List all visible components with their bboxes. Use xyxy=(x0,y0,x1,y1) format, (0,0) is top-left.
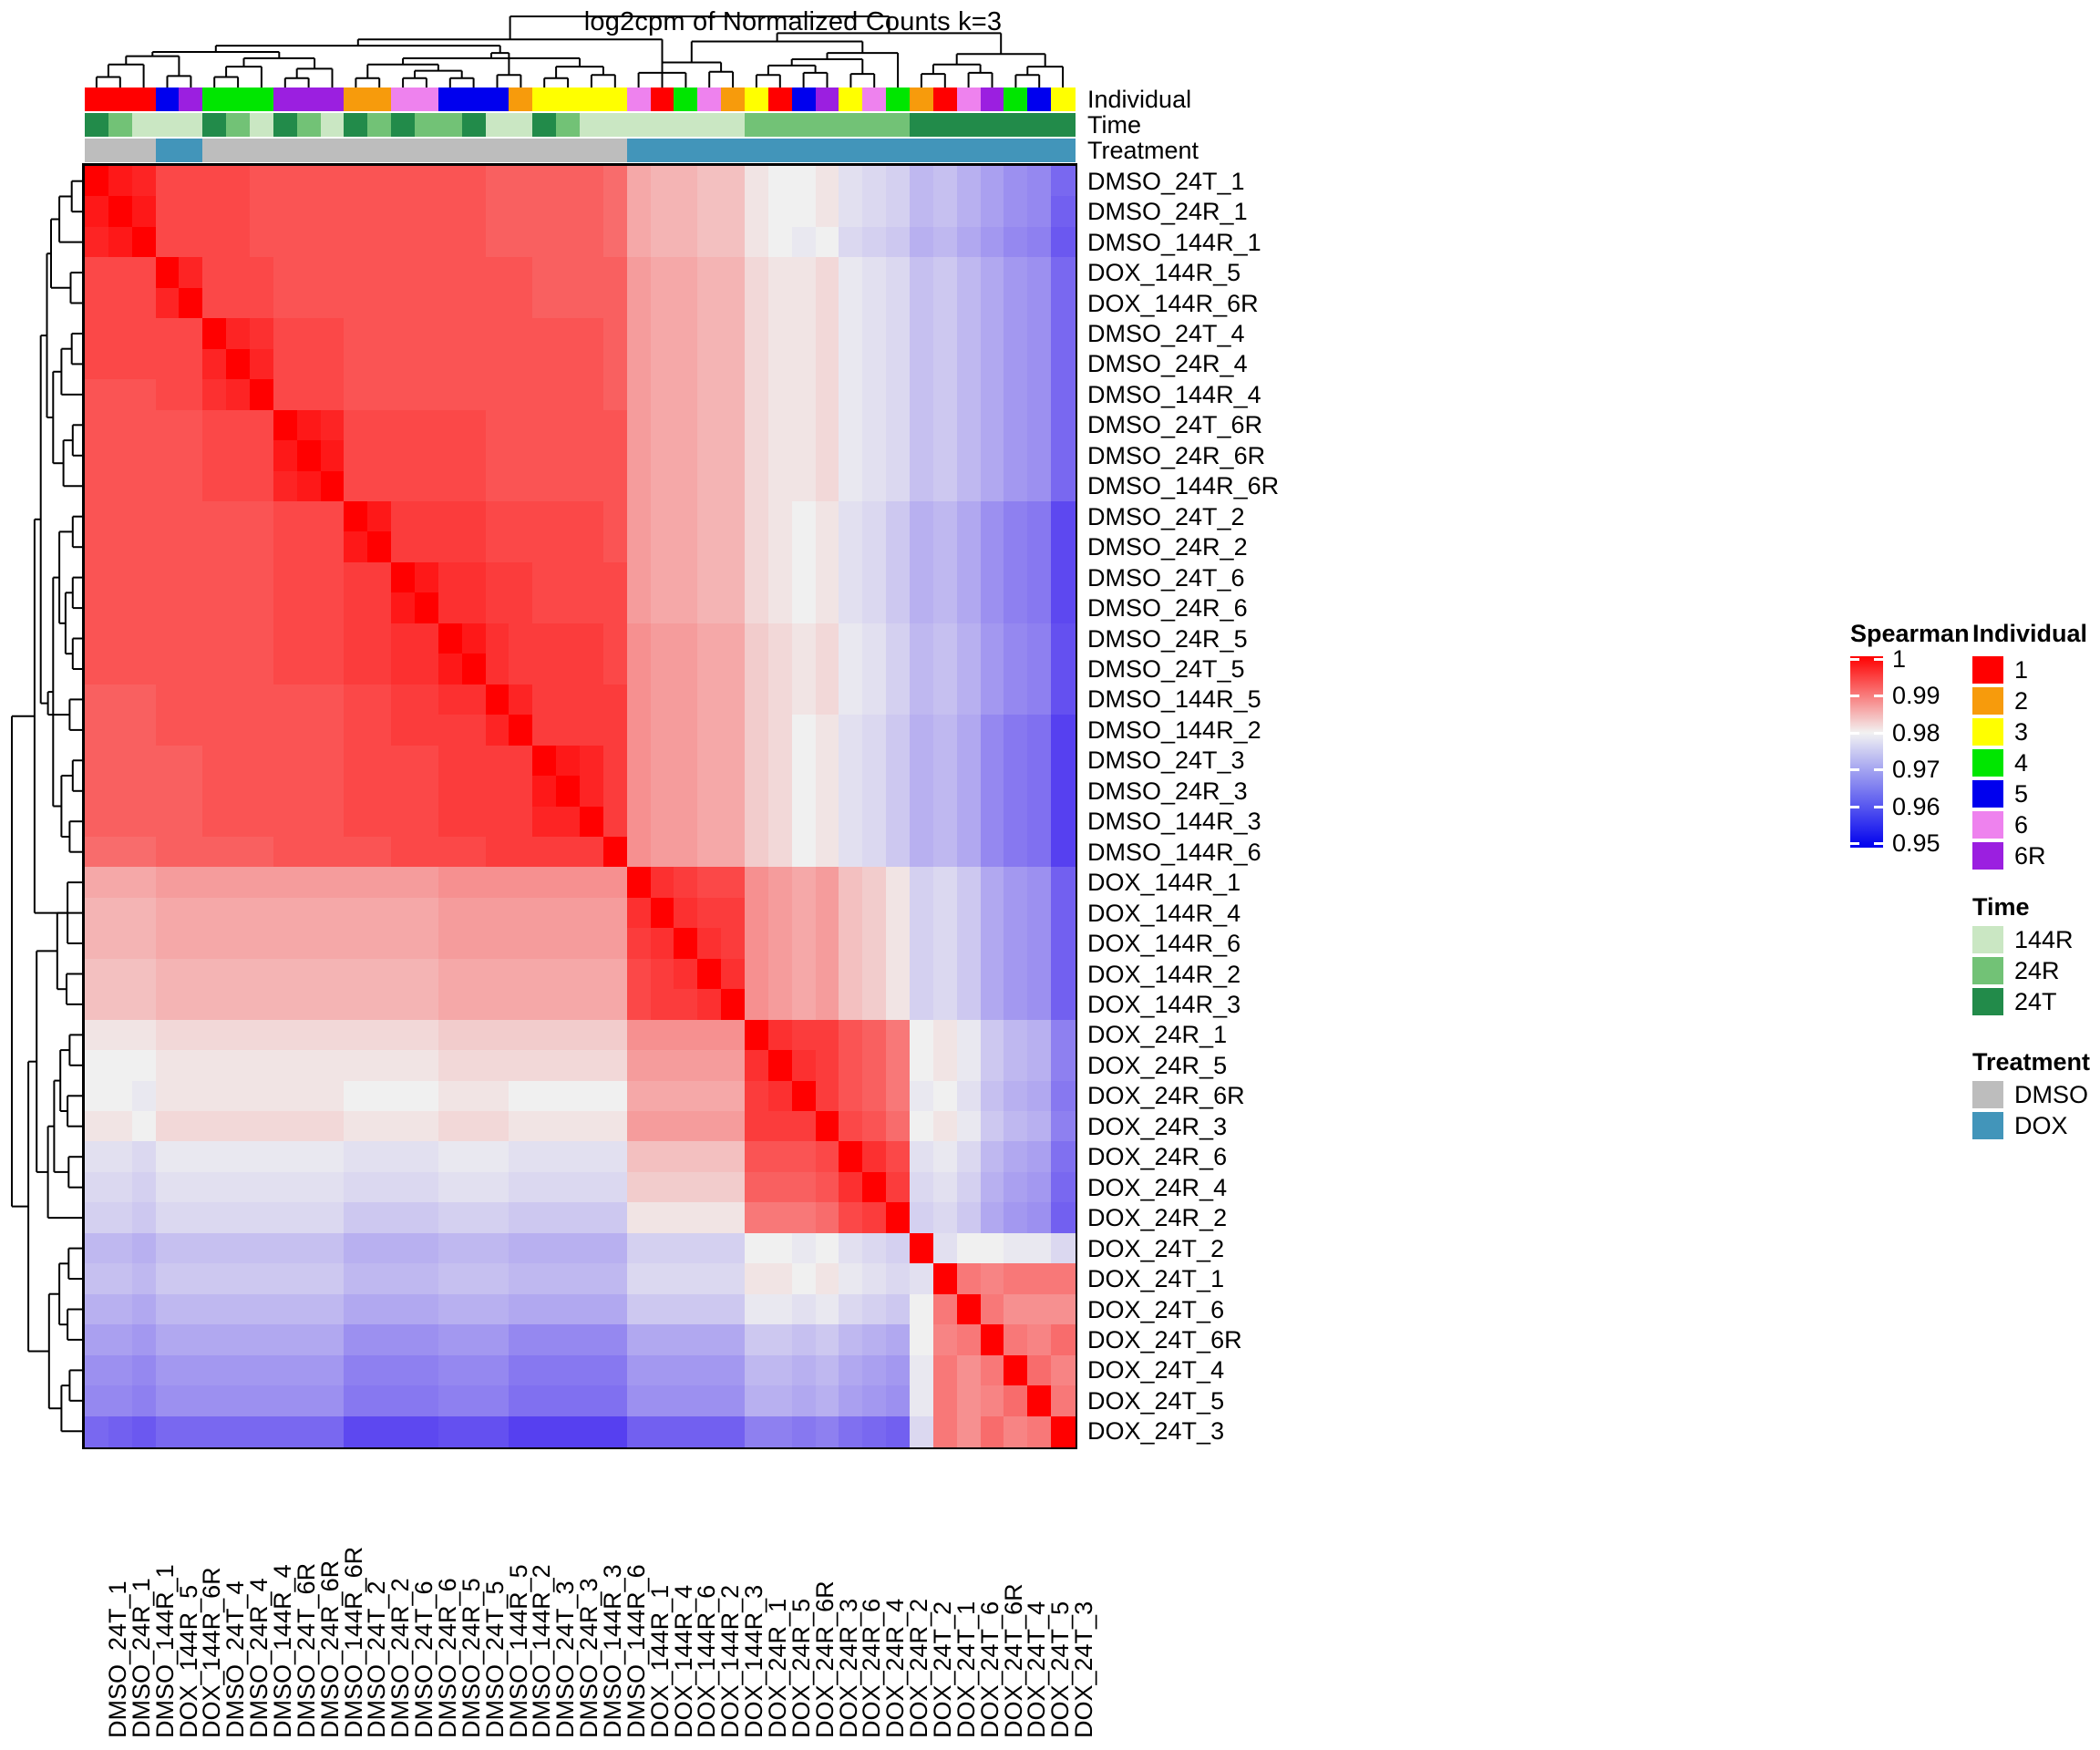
heatmap-cell[interactable] xyxy=(297,1050,321,1081)
heatmap-cell[interactable] xyxy=(981,1141,1004,1172)
heatmap-cell[interactable] xyxy=(226,196,250,227)
heatmap-cell[interactable] xyxy=(1051,1233,1075,1264)
heatmap-cell[interactable] xyxy=(580,746,603,777)
heatmap-cell[interactable] xyxy=(886,1263,910,1294)
heatmap-cell[interactable] xyxy=(1027,288,1051,319)
heatmap-cell[interactable] xyxy=(981,1263,1004,1294)
heatmap-cell[interactable] xyxy=(1027,989,1051,1020)
heatmap-cell[interactable] xyxy=(226,898,250,929)
heatmap-cell[interactable] xyxy=(957,592,981,623)
heatmap-cell[interactable] xyxy=(202,928,226,959)
heatmap-cell[interactable] xyxy=(108,1324,132,1355)
heatmap-cell[interactable] xyxy=(486,257,510,288)
heatmap-cell[interactable] xyxy=(981,1294,1004,1325)
heatmap-cell[interactable] xyxy=(862,1385,886,1416)
heatmap-cell[interactable] xyxy=(250,1385,273,1416)
heatmap-cell[interactable] xyxy=(981,227,1004,258)
heatmap-cell[interactable] xyxy=(839,440,862,471)
heatmap-cell[interactable] xyxy=(957,1202,981,1233)
heatmap-cell[interactable] xyxy=(367,1050,391,1081)
heatmap-cell[interactable] xyxy=(273,227,297,258)
heatmap-cell[interactable] xyxy=(250,959,273,990)
heatmap-cell[interactable] xyxy=(627,1416,651,1447)
heatmap-cell[interactable] xyxy=(297,501,321,532)
heatmap-cell[interactable] xyxy=(580,867,603,898)
heatmap-cell[interactable] xyxy=(816,776,839,807)
heatmap-cell[interactable] xyxy=(1004,1263,1027,1294)
heatmap-cell[interactable] xyxy=(603,1324,627,1355)
heatmap-cell[interactable] xyxy=(108,989,132,1020)
heatmap-cell[interactable] xyxy=(816,1172,839,1203)
heatmap-cell[interactable] xyxy=(580,837,603,868)
heatmap-cell[interactable] xyxy=(603,471,627,502)
heatmap-cell[interactable] xyxy=(415,440,438,471)
heatmap-cell[interactable] xyxy=(933,501,957,532)
heatmap-cell[interactable] xyxy=(367,776,391,807)
heatmap-cell[interactable] xyxy=(344,1416,367,1447)
heatmap-cell[interactable] xyxy=(156,959,180,990)
heatmap-cell[interactable] xyxy=(1027,1172,1051,1203)
heatmap-cell[interactable] xyxy=(344,623,367,654)
heatmap-cell[interactable] xyxy=(391,837,415,868)
heatmap-cell[interactable] xyxy=(768,746,792,777)
heatmap-cell[interactable] xyxy=(862,1020,886,1051)
heatmap-cell[interactable] xyxy=(957,379,981,410)
heatmap-cell[interactable] xyxy=(509,379,532,410)
heatmap-cell[interactable] xyxy=(580,166,603,197)
heatmap-cell[interactable] xyxy=(627,654,651,685)
heatmap-cell[interactable] xyxy=(297,685,321,715)
heatmap-cell[interactable] xyxy=(768,1416,792,1447)
heatmap-cell[interactable] xyxy=(297,959,321,990)
heatmap-cell[interactable] xyxy=(957,166,981,197)
heatmap-cell[interactable] xyxy=(462,1385,486,1416)
heatmap-cell[interactable] xyxy=(132,1111,156,1142)
heatmap-cell[interactable] xyxy=(839,1081,862,1112)
heatmap-cell[interactable] xyxy=(816,715,839,746)
heatmap-cell[interactable] xyxy=(839,1416,862,1447)
heatmap-cell[interactable] xyxy=(391,654,415,685)
heatmap-cell[interactable] xyxy=(250,989,273,1020)
heatmap-cell[interactable] xyxy=(627,1111,651,1142)
heatmap-cell[interactable] xyxy=(886,1081,910,1112)
heatmap-cell[interactable] xyxy=(1027,654,1051,685)
heatmap-cell[interactable] xyxy=(273,837,297,868)
heatmap-cell[interactable] xyxy=(297,166,321,197)
heatmap-cell[interactable] xyxy=(226,1416,250,1447)
heatmap-cell[interactable] xyxy=(957,288,981,319)
heatmap-cell[interactable] xyxy=(933,776,957,807)
heatmap-cell[interactable] xyxy=(580,1020,603,1051)
heatmap-cell[interactable] xyxy=(297,898,321,929)
heatmap-cell[interactable] xyxy=(391,1233,415,1264)
heatmap-cell[interactable] xyxy=(721,379,745,410)
heatmap-cell[interactable] xyxy=(792,501,816,532)
heatmap-cell[interactable] xyxy=(391,288,415,319)
heatmap-cell[interactable] xyxy=(85,1263,108,1294)
heatmap-cell[interactable] xyxy=(839,1233,862,1264)
heatmap-cell[interactable] xyxy=(651,1324,674,1355)
heatmap-cell[interactable] xyxy=(862,623,886,654)
heatmap-cell[interactable] xyxy=(580,227,603,258)
heatmap-cell[interactable] xyxy=(250,1081,273,1112)
heatmap-cell[interactable] xyxy=(85,1141,108,1172)
heatmap-cell[interactable] xyxy=(721,288,745,319)
heatmap-cell[interactable] xyxy=(85,440,108,471)
heatmap-cell[interactable] xyxy=(156,1141,180,1172)
heatmap-cell[interactable] xyxy=(697,1050,721,1081)
heatmap-cell[interactable] xyxy=(321,1385,345,1416)
heatmap-cell[interactable] xyxy=(344,166,367,197)
heatmap-cell[interactable] xyxy=(792,959,816,990)
heatmap-cell[interactable] xyxy=(344,1294,367,1325)
heatmap-cell[interactable] xyxy=(438,1020,462,1051)
heatmap-cell[interactable] xyxy=(816,685,839,715)
heatmap-cell[interactable] xyxy=(1051,867,1075,898)
heatmap-cell[interactable] xyxy=(462,746,486,777)
heatmap-cell[interactable] xyxy=(509,440,532,471)
heatmap-cell[interactable] xyxy=(603,1172,627,1203)
heatmap-cell[interactable] xyxy=(486,867,510,898)
heatmap-cell[interactable] xyxy=(226,928,250,959)
heatmap-cell[interactable] xyxy=(179,989,202,1020)
heatmap-cell[interactable] xyxy=(721,959,745,990)
heatmap-cell[interactable] xyxy=(745,623,768,654)
heatmap-cell[interactable] xyxy=(674,1416,697,1447)
heatmap-cell[interactable] xyxy=(1004,1324,1027,1355)
heatmap-cell[interactable] xyxy=(627,227,651,258)
heatmap-cell[interactable] xyxy=(792,531,816,562)
heatmap-cell[interactable] xyxy=(273,288,297,319)
heatmap-cell[interactable] xyxy=(910,379,933,410)
heatmap-cell[interactable] xyxy=(156,257,180,288)
heatmap-cell[interactable] xyxy=(603,654,627,685)
heatmap-cell[interactable] xyxy=(792,318,816,349)
heatmap-cell[interactable] xyxy=(839,592,862,623)
heatmap-cell[interactable] xyxy=(438,1081,462,1112)
heatmap-cell[interactable] xyxy=(321,166,345,197)
heatmap-cell[interactable] xyxy=(344,776,367,807)
heatmap-cell[interactable] xyxy=(862,1324,886,1355)
heatmap-cell[interactable] xyxy=(85,1355,108,1386)
heatmap-cell[interactable] xyxy=(532,410,556,441)
heatmap-cell[interactable] xyxy=(792,1263,816,1294)
heatmap-cell[interactable] xyxy=(108,196,132,227)
heatmap-cell[interactable] xyxy=(321,623,345,654)
heatmap-cell[interactable] xyxy=(580,1324,603,1355)
heatmap-cell[interactable] xyxy=(202,1202,226,1233)
heatmap-cell[interactable] xyxy=(226,1081,250,1112)
heatmap-cell[interactable] xyxy=(816,746,839,777)
heatmap-cell[interactable] xyxy=(202,959,226,990)
heatmap-cell[interactable] xyxy=(1004,654,1027,685)
heatmap-cell[interactable] xyxy=(273,1233,297,1264)
heatmap-cell[interactable] xyxy=(344,1050,367,1081)
heatmap-cell[interactable] xyxy=(297,1233,321,1264)
heatmap-cell[interactable] xyxy=(957,1263,981,1294)
heatmap-cell[interactable] xyxy=(297,1141,321,1172)
heatmap-cell[interactable] xyxy=(674,349,697,380)
heatmap-cell[interactable] xyxy=(391,410,415,441)
heatmap-cell[interactable] xyxy=(462,989,486,1020)
heatmap-cell[interactable] xyxy=(108,1202,132,1233)
heatmap-cell[interactable] xyxy=(839,989,862,1020)
heatmap-cell[interactable] xyxy=(886,166,910,197)
heatmap-cell[interactable] xyxy=(438,288,462,319)
heatmap-cell[interactable] xyxy=(297,867,321,898)
heatmap-cell[interactable] xyxy=(438,1294,462,1325)
heatmap-cell[interactable] xyxy=(580,807,603,838)
heatmap-cell[interactable] xyxy=(745,1081,768,1112)
heatmap-cell[interactable] xyxy=(156,1202,180,1233)
heatmap-cell[interactable] xyxy=(862,257,886,288)
heatmap-cell[interactable] xyxy=(674,776,697,807)
heatmap-cell[interactable] xyxy=(250,898,273,929)
heatmap-cell[interactable] xyxy=(1027,1081,1051,1112)
heatmap-cell[interactable] xyxy=(297,1081,321,1112)
heatmap-cell[interactable] xyxy=(415,1263,438,1294)
heatmap-cell[interactable] xyxy=(273,776,297,807)
heatmap-cell[interactable] xyxy=(85,257,108,288)
heatmap-cell[interactable] xyxy=(745,1172,768,1203)
heatmap-cell[interactable] xyxy=(886,1324,910,1355)
heatmap-cell[interactable] xyxy=(509,1020,532,1051)
heatmap-cell[interactable] xyxy=(862,531,886,562)
heatmap-cell[interactable] xyxy=(391,867,415,898)
heatmap-cell[interactable] xyxy=(886,227,910,258)
heatmap-cell[interactable] xyxy=(745,654,768,685)
heatmap-cell[interactable] xyxy=(297,196,321,227)
heatmap-cell[interactable] xyxy=(697,746,721,777)
heatmap-cell[interactable] xyxy=(415,746,438,777)
heatmap-cell[interactable] xyxy=(273,440,297,471)
heatmap-cell[interactable] xyxy=(768,1263,792,1294)
heatmap-cell[interactable] xyxy=(179,440,202,471)
heatmap-cell[interactable] xyxy=(697,623,721,654)
heatmap-cell[interactable] xyxy=(344,1172,367,1203)
heatmap-cell[interactable] xyxy=(108,1416,132,1447)
heatmap-cell[interactable] xyxy=(556,288,580,319)
heatmap-cell[interactable] xyxy=(933,562,957,593)
heatmap-cell[interactable] xyxy=(321,1263,345,1294)
heatmap-cell[interactable] xyxy=(862,196,886,227)
heatmap-cell[interactable] xyxy=(179,501,202,532)
heatmap-cell[interactable] xyxy=(202,1233,226,1264)
heatmap-cell[interactable] xyxy=(132,1324,156,1355)
heatmap-cell[interactable] xyxy=(910,1233,933,1264)
heatmap-cell[interactable] xyxy=(627,1050,651,1081)
heatmap-cell[interactable] xyxy=(816,867,839,898)
heatmap-cell[interactable] xyxy=(297,1294,321,1325)
heatmap-cell[interactable] xyxy=(674,1355,697,1386)
heatmap-cell[interactable] xyxy=(1051,227,1075,258)
heatmap-cell[interactable] xyxy=(933,471,957,502)
heatmap-cell[interactable] xyxy=(910,1141,933,1172)
heatmap-cell[interactable] xyxy=(321,257,345,288)
heatmap-cell[interactable] xyxy=(981,1355,1004,1386)
heatmap-cell[interactable] xyxy=(486,807,510,838)
heatmap-cell[interactable] xyxy=(438,807,462,838)
heatmap-cell[interactable] xyxy=(816,288,839,319)
heatmap-cell[interactable] xyxy=(603,959,627,990)
heatmap-cell[interactable] xyxy=(721,928,745,959)
heatmap-cell[interactable] xyxy=(391,1081,415,1112)
heatmap-cell[interactable] xyxy=(226,959,250,990)
heatmap-cell[interactable] xyxy=(816,1050,839,1081)
heatmap-cell[interactable] xyxy=(391,166,415,197)
heatmap-cell[interactable] xyxy=(580,1294,603,1325)
heatmap-cell[interactable] xyxy=(108,1172,132,1203)
heatmap-cell[interactable] xyxy=(532,1111,556,1142)
heatmap-cell[interactable] xyxy=(273,166,297,197)
heatmap-cell[interactable] xyxy=(226,715,250,746)
heatmap-cell[interactable] xyxy=(651,1050,674,1081)
heatmap-cell[interactable] xyxy=(1027,1202,1051,1233)
heatmap-cell[interactable] xyxy=(462,685,486,715)
heatmap-cell[interactable] xyxy=(603,867,627,898)
heatmap-cell[interactable] xyxy=(321,685,345,715)
heatmap-cell[interactable] xyxy=(532,1081,556,1112)
heatmap-cell[interactable] xyxy=(462,288,486,319)
heatmap-cell[interactable] xyxy=(509,1141,532,1172)
heatmap-cell[interactable] xyxy=(367,1324,391,1355)
heatmap-cell[interactable] xyxy=(957,471,981,502)
heatmap-cell[interactable] xyxy=(862,1294,886,1325)
heatmap-cell[interactable] xyxy=(156,776,180,807)
heatmap-cell[interactable] xyxy=(886,1172,910,1203)
heatmap-cell[interactable] xyxy=(532,1141,556,1172)
heatmap-cell[interactable] xyxy=(85,1202,108,1233)
heatmap-cell[interactable] xyxy=(532,1355,556,1386)
heatmap-cell[interactable] xyxy=(179,807,202,838)
heatmap-cell[interactable] xyxy=(462,318,486,349)
heatmap-cell[interactable] xyxy=(344,410,367,441)
heatmap-cell[interactable] xyxy=(85,166,108,197)
heatmap-cell[interactable] xyxy=(156,837,180,868)
heatmap-cell[interactable] xyxy=(132,440,156,471)
heatmap-cell[interactable] xyxy=(85,318,108,349)
heatmap-cell[interactable] xyxy=(132,349,156,380)
heatmap-cell[interactable] xyxy=(179,1172,202,1203)
heatmap-cell[interactable] xyxy=(202,257,226,288)
heatmap-cell[interactable] xyxy=(721,837,745,868)
heatmap-cell[interactable] xyxy=(603,1020,627,1051)
heatmap-cell[interactable] xyxy=(85,1172,108,1203)
heatmap-cell[interactable] xyxy=(202,1294,226,1325)
heatmap-cell[interactable] xyxy=(910,1111,933,1142)
heatmap-cell[interactable] xyxy=(580,989,603,1020)
heatmap-cell[interactable] xyxy=(816,1294,839,1325)
heatmap-cell[interactable] xyxy=(957,562,981,593)
heatmap-cell[interactable] xyxy=(768,776,792,807)
heatmap-cell[interactable] xyxy=(768,1050,792,1081)
heatmap-cell[interactable] xyxy=(250,379,273,410)
heatmap-cell[interactable] xyxy=(108,166,132,197)
heatmap-cell[interactable] xyxy=(273,1141,297,1172)
heatmap-cell[interactable] xyxy=(721,440,745,471)
heatmap-cell[interactable] xyxy=(768,807,792,838)
heatmap-cell[interactable] xyxy=(226,227,250,258)
heatmap-cell[interactable] xyxy=(85,746,108,777)
heatmap-cell[interactable] xyxy=(862,1202,886,1233)
heatmap-cell[interactable] xyxy=(297,227,321,258)
heatmap-cell[interactable] xyxy=(886,1050,910,1081)
heatmap-cell[interactable] xyxy=(1027,1050,1051,1081)
heatmap-cell[interactable] xyxy=(438,654,462,685)
heatmap-cell[interactable] xyxy=(132,592,156,623)
heatmap-cell[interactable] xyxy=(297,776,321,807)
heatmap-cell[interactable] xyxy=(156,1081,180,1112)
heatmap-cell[interactable] xyxy=(108,928,132,959)
heatmap-cell[interactable] xyxy=(1051,592,1075,623)
heatmap-cell[interactable] xyxy=(745,1111,768,1142)
heatmap-cell[interactable] xyxy=(627,562,651,593)
heatmap-cell[interactable] xyxy=(344,501,367,532)
heatmap-cell[interactable] xyxy=(674,1141,697,1172)
heatmap-cell[interactable] xyxy=(344,1141,367,1172)
heatmap-cell[interactable] xyxy=(721,410,745,441)
heatmap-cell[interactable] xyxy=(415,1141,438,1172)
heatmap-cell[interactable] xyxy=(85,776,108,807)
heatmap-cell[interactable] xyxy=(886,592,910,623)
heatmap-cell[interactable] xyxy=(1051,898,1075,929)
heatmap-cell[interactable] xyxy=(108,349,132,380)
heatmap-cell[interactable] xyxy=(981,989,1004,1020)
heatmap-cell[interactable] xyxy=(85,501,108,532)
heatmap-cell[interactable] xyxy=(438,623,462,654)
heatmap-cell[interactable] xyxy=(344,898,367,929)
heatmap-cell[interactable] xyxy=(816,501,839,532)
heatmap-cell[interactable] xyxy=(462,1081,486,1112)
heatmap-cell[interactable] xyxy=(745,867,768,898)
heatmap-cell[interactable] xyxy=(981,410,1004,441)
heatmap-cell[interactable] xyxy=(226,318,250,349)
heatmap-cell[interactable] xyxy=(957,227,981,258)
heatmap-cell[interactable] xyxy=(108,807,132,838)
heatmap-cell[interactable] xyxy=(886,1141,910,1172)
heatmap-cell[interactable] xyxy=(651,1172,674,1203)
heatmap-cell[interactable] xyxy=(273,1050,297,1081)
heatmap-cell[interactable] xyxy=(85,1081,108,1112)
heatmap-cell[interactable] xyxy=(462,959,486,990)
heatmap-cell[interactable] xyxy=(273,531,297,562)
heatmap-cell[interactable] xyxy=(202,166,226,197)
heatmap-cell[interactable] xyxy=(179,746,202,777)
heatmap-cell[interactable] xyxy=(603,1050,627,1081)
heatmap-cell[interactable] xyxy=(1004,379,1027,410)
heatmap-cell[interactable] xyxy=(438,227,462,258)
heatmap-cell[interactable] xyxy=(697,959,721,990)
heatmap-cell[interactable] xyxy=(179,562,202,593)
heatmap-cell[interactable] xyxy=(156,1172,180,1203)
heatmap-cell[interactable] xyxy=(981,776,1004,807)
heatmap-cell[interactable] xyxy=(321,410,345,441)
heatmap-cell[interactable] xyxy=(1051,837,1075,868)
heatmap-cell[interactable] xyxy=(957,776,981,807)
heatmap-cell[interactable] xyxy=(132,898,156,929)
heatmap-cell[interactable] xyxy=(509,654,532,685)
heatmap-cell[interactable] xyxy=(839,1050,862,1081)
heatmap-cell[interactable] xyxy=(156,1324,180,1355)
heatmap-cell[interactable] xyxy=(745,471,768,502)
heatmap-cell[interactable] xyxy=(603,928,627,959)
heatmap-cell[interactable] xyxy=(415,227,438,258)
heatmap-cell[interactable] xyxy=(297,318,321,349)
heatmap-cell[interactable] xyxy=(792,623,816,654)
heatmap-cell[interactable] xyxy=(651,898,674,929)
heatmap-cell[interactable] xyxy=(391,746,415,777)
heatmap-cell[interactable] xyxy=(933,196,957,227)
